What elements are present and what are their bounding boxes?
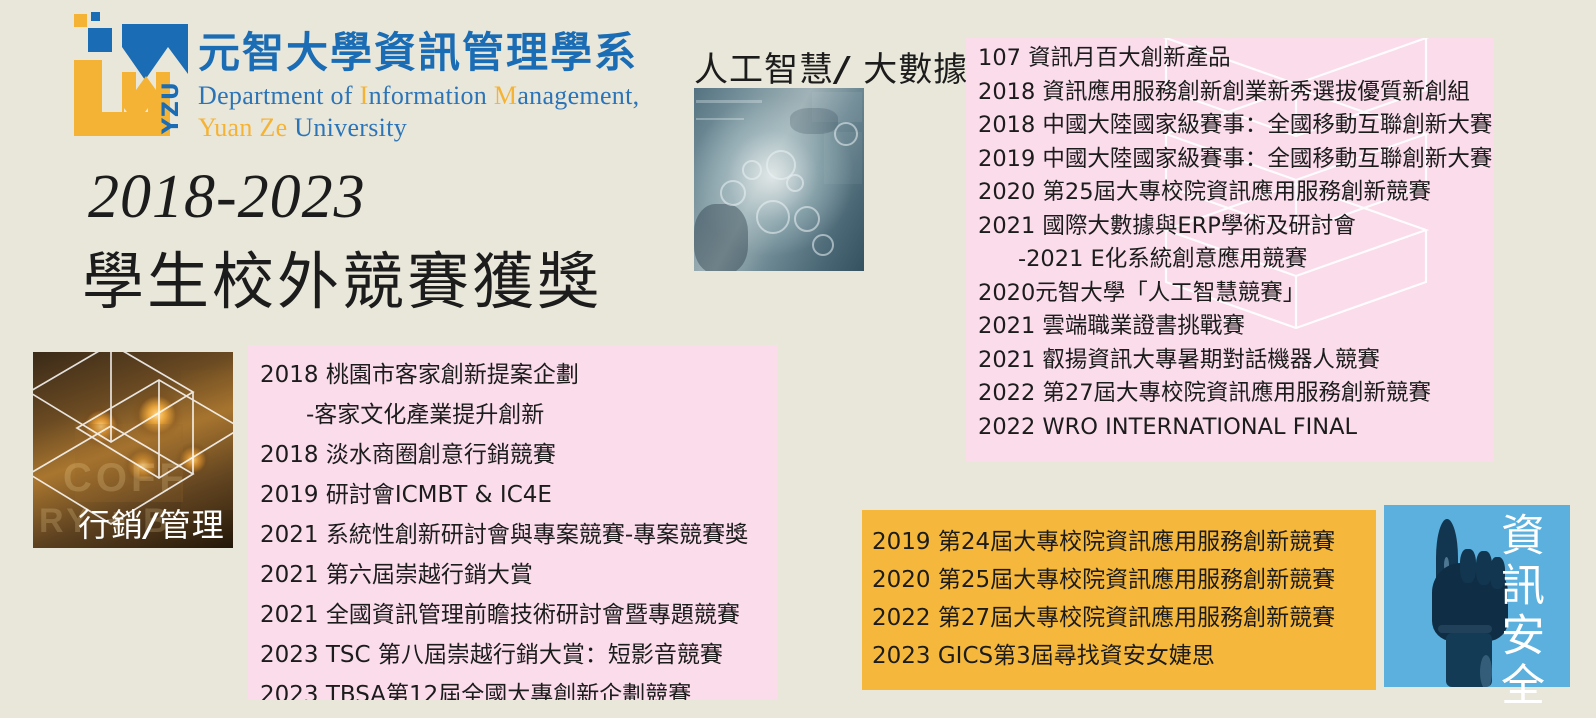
marketing-image-label: 行銷/管理 xyxy=(78,500,225,546)
list-item: 2020 第25屆大專校院資訊應用服務創新競賽 xyxy=(872,561,1335,599)
list-item: 2021 全國資訊管理前瞻技術研討會暨專題競賽 xyxy=(260,595,748,635)
svg-text:YZU: YZU xyxy=(159,81,184,135)
list-item: 107 資訊月百大創新產品 xyxy=(978,42,1492,76)
list-item: 2019 研討會ICMBT & IC4E xyxy=(260,475,748,515)
marketing-label-left: 行銷 xyxy=(78,506,144,544)
list-item: 2021 系統性創新研討會與專案競賽-專案競賽獎 xyxy=(260,515,748,555)
section-heading-ai-left: 人工智慧 xyxy=(694,50,834,90)
page-title: 學生校外競賽獲獎 xyxy=(82,248,602,316)
list-item: 2022 WRO INTERNATIONAL FINAL xyxy=(978,411,1492,445)
security-awards-panel: 2019 第24屆大專校院資訊應用服務創新競賽 2020 第25屆大專校院資訊應… xyxy=(862,510,1376,690)
list-item: 2022 第27屆大專校院資訊應用服務創新競賽 xyxy=(872,599,1335,637)
list-item: 2018 淡水商圈創意行銷競賽 xyxy=(260,435,748,475)
security-awards-list: 2019 第24屆大專校院資訊應用服務創新競賽 2020 第25屆大專校院資訊應… xyxy=(872,523,1335,675)
logo-name-cn: 元智大學資訊管理學系 xyxy=(198,32,639,74)
marketing-label-right: 管理 xyxy=(159,506,225,544)
logo-name-en-line2: Yuan Ze University xyxy=(198,113,639,143)
list-item: 2022 第27屆大專校院資訊應用服務創新競賽 xyxy=(978,377,1492,411)
section-heading-ai-right: 大數據 xyxy=(863,50,968,90)
image-ghost-text: COFF xyxy=(63,456,188,501)
list-item: 2023 TBSA第12屆全國大專創新企劃競賽 xyxy=(260,675,748,700)
logo-name-en-line1: Department of Information Management, xyxy=(198,81,639,111)
ai-robot-head-image xyxy=(694,88,864,271)
poster-canvas: YZU 元智大學資訊管理學系 Department of Information… xyxy=(0,0,1596,718)
list-item: 2019 第24屆大專校院資訊應用服務創新競賽 xyxy=(872,523,1335,561)
list-item: 2023 GICS第3屆尋找資安女婕思 xyxy=(872,637,1335,675)
department-logo: YZU 元智大學資訊管理學系 Department of Information… xyxy=(60,12,660,162)
list-item: 2021 雲端職業證書挑戰賽 xyxy=(978,310,1492,344)
list-item: 2020元智大學「人工智慧競賽」 xyxy=(978,277,1492,311)
marketing-awards-list: 2018 桃園市客家創新提案企劃 -客家文化產業提升創新 2018 淡水商圈創意… xyxy=(260,355,748,700)
list-item: 2018 資訊應用服務創新創業新秀選拔優質新創組 xyxy=(978,76,1492,110)
slash-separator: / xyxy=(834,50,851,90)
list-item: 2018 中國大陸國家級賽事：全國移動互聯創新大賽 xyxy=(978,109,1492,143)
marketing-awards-panel: 2018 桃園市客家創新提案企劃 -客家文化產業提升創新 2018 淡水商圈創意… xyxy=(248,345,778,700)
list-item: 2021 第六屆崇越行銷大賞 xyxy=(260,555,748,595)
slash-separator: / xyxy=(144,506,159,544)
ai-awards-list: 107 資訊月百大創新產品 2018 資訊應用服務創新創業新秀選拔優質新創組 2… xyxy=(978,42,1492,444)
list-item: 2021 叡揚資訊大專暑期對話機器人競賽 xyxy=(978,344,1492,378)
list-item: 2019 中國大陸國家級賽事：全國移動互聯創新大賽 xyxy=(978,143,1492,177)
ai-awards-panel: 107 資訊月百大創新產品 2018 資訊應用服務創新創業新秀選拔優質新創組 2… xyxy=(966,38,1494,462)
list-item: 2018 桃園市客家創新提案企劃 xyxy=(260,355,748,395)
list-item: 2023 TSC 第八屆崇越行銷大賞：短影音競賽 xyxy=(260,635,748,675)
list-item: 2021 國際大數據與ERP學術及研討會 xyxy=(978,210,1492,244)
list-item: -客家文化產業提升創新 xyxy=(260,395,748,435)
poster-year-range: 2018-2023 xyxy=(88,166,366,228)
list-item: -2021 E化系統創意應用競賽 xyxy=(978,243,1492,277)
list-item: 2020 第25屆大專校院資訊應用服務創新競賽 xyxy=(978,176,1492,210)
security-image-label: 資訊安全 xyxy=(1492,512,1544,712)
section-heading-ai: 人工智慧/ 大數據 xyxy=(694,42,968,91)
